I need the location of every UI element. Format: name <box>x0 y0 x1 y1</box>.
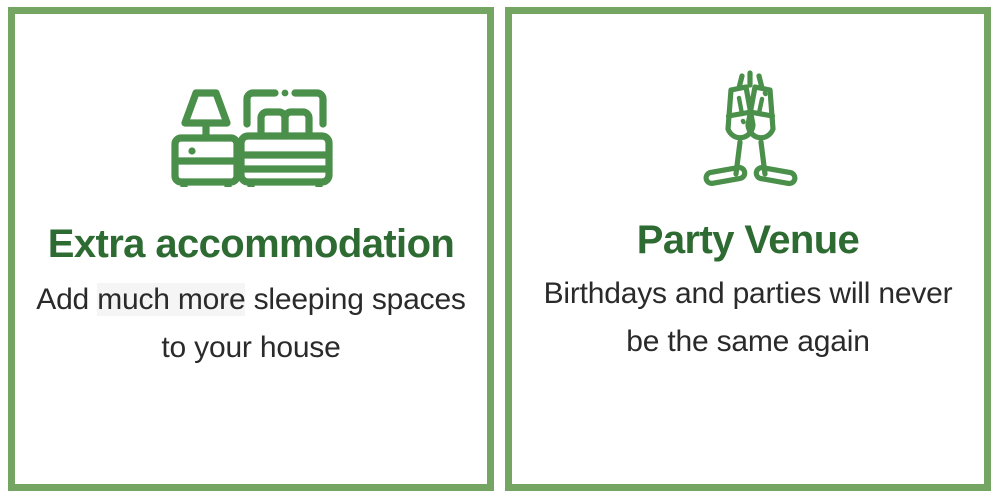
card-title: Party Venue <box>637 220 859 260</box>
card-description-segment-b: much more <box>97 283 245 316</box>
card-description-line-1: Birthdays and parties will <box>544 277 871 310</box>
bed-and-nightstand-lamp-icon <box>165 76 337 192</box>
card-description-segment-c: sleeping <box>254 283 364 316</box>
card-description: Add much more sleeping spaces to your ho… <box>36 276 466 372</box>
feature-card-extra-accommodation[interactable]: Extra accommodation Add much more sleepi… <box>8 7 494 491</box>
card-description-segment-a: Add <box>36 283 89 316</box>
card-description: Birthdays and parties will never be the … <box>538 270 958 366</box>
card-title: Extra accommodation <box>48 224 455 264</box>
feature-card-party-venue[interactable]: Party Venue Birthdays and parties will n… <box>505 7 991 491</box>
clinking-champagne-glasses-icon <box>689 66 807 194</box>
feature-card-grid: Extra accommodation Add much more sleepi… <box>0 0 1000 500</box>
